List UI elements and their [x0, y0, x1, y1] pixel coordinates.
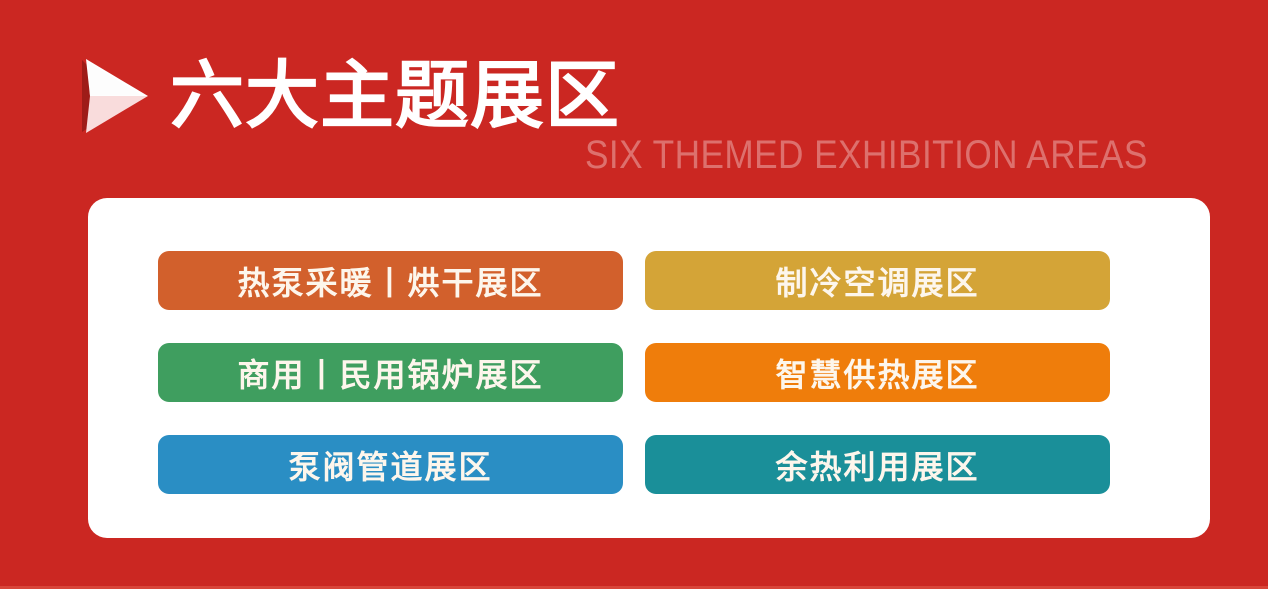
zone-label: 余热利用展区: [775, 442, 979, 488]
poster-root: 六大主题展区 SIX THEMED EXHIBITION AREAS 热泵采暖丨…: [0, 0, 1268, 589]
zone-button-smart-heating[interactable]: 智慧供热展区: [645, 343, 1110, 402]
zones-grid: 热泵采暖丨烘干展区 制冷空调展区 商用丨民用锅炉展区 智慧供热展区 泵阀管道展区…: [158, 251, 1140, 494]
zone-button-pump-valve-pipeline[interactable]: 泵阀管道展区: [158, 435, 623, 494]
page-title: 六大主题展区: [170, 62, 620, 130]
page-subtitle: SIX THEMED EXHIBITION AREAS: [585, 134, 1148, 176]
zone-label: 智慧供热展区: [775, 350, 979, 396]
poster-header: 六大主题展区 SIX THEMED EXHIBITION AREAS: [0, 0, 1268, 198]
title-row: 六大主题展区: [78, 56, 620, 136]
zone-button-heat-pump-heating-drying[interactable]: 热泵采暖丨烘干展区: [158, 251, 623, 310]
play-triangle-icon: [78, 56, 152, 136]
zone-label: 商用丨民用锅炉展区: [237, 350, 543, 396]
zone-label: 热泵采暖丨烘干展区: [237, 258, 543, 304]
zone-button-waste-heat-utilization[interactable]: 余热利用展区: [645, 435, 1110, 494]
zone-label: 制冷空调展区: [775, 258, 979, 304]
zone-label: 泵阀管道展区: [288, 442, 492, 488]
zones-card: 热泵采暖丨烘干展区 制冷空调展区 商用丨民用锅炉展区 智慧供热展区 泵阀管道展区…: [88, 198, 1210, 538]
zone-button-commercial-residential-boiler[interactable]: 商用丨民用锅炉展区: [158, 343, 623, 402]
zone-button-refrigeration-air-conditioning[interactable]: 制冷空调展区: [645, 251, 1110, 310]
